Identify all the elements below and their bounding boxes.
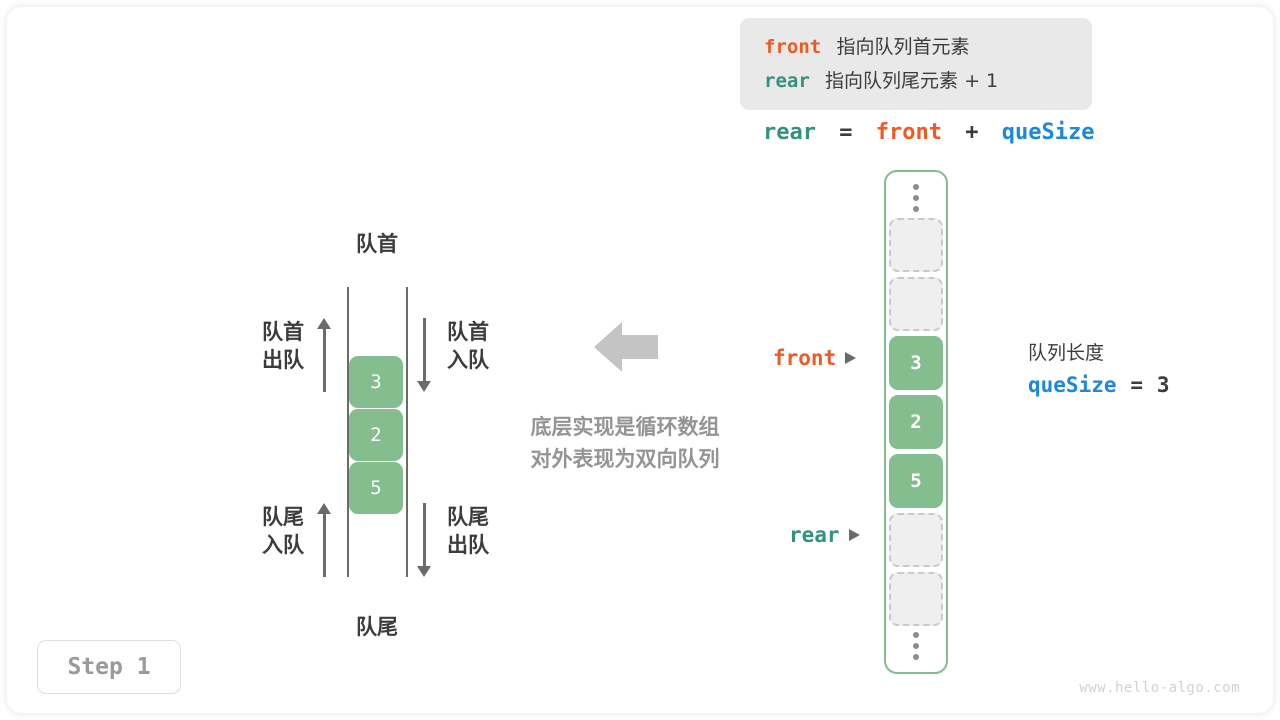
center-caption-line1: 底层实现是循环数组 [504,412,746,444]
vertical-ellipsis-icon-top [913,184,919,212]
legend-box: front 指向队列首元素 rear 指向队列尾元素 + 1 [740,18,1092,110]
pointer-front: front [773,346,856,370]
formula-rear-equals-front-plus-quesize: rear = front + queSize [763,120,1094,145]
deque-head-label: 队首 [347,228,407,258]
deque-slot-1[interactable]: 2 [349,409,403,461]
diagram-canvas: front 指向队列首元素 rear 指向队列尾元素 + 1 rear = fr… [0,0,1280,720]
formula-lhs: rear [763,120,816,145]
deque-slot-0[interactable]: 3 [349,356,403,408]
op-label-head-dequeue: 队首 出队 [249,318,304,375]
quesize-note-label: 队列长度 [1028,338,1170,365]
legend-desc-rear: 指向队列尾元素 + 1 [825,70,998,92]
formula-rhs-quesize: queSize [1002,120,1095,145]
arrow-down-icon-tail-dequeue [417,503,431,577]
array-slot-0[interactable] [889,218,943,272]
arrow-right-icon-front [845,352,856,364]
step-badge: Step 1 [37,640,181,694]
deque-tail-label: 队尾 [347,611,407,641]
deque-rail-right [406,287,408,577]
array-slot-3[interactable]: 2 [889,395,943,449]
arrow-left-icon-large [594,322,658,372]
legend-line-front: front 指向队列首元素 [764,32,970,59]
deque-slot-1-value: 2 [370,424,381,446]
arrow-up-icon-head-dequeue [317,318,331,392]
watermark: www.hello-algo.com [1079,680,1240,696]
array-slot-2-value: 3 [910,352,921,374]
formula-rhs-front: front [876,120,942,145]
op-label-tail-enqueue: 队尾 入队 [249,503,304,560]
quesize-note-var: queSize [1028,373,1117,397]
center-caption: 底层实现是循环数组 对外表现为双向队列 [504,412,746,475]
quesize-note-value: 3 [1157,373,1170,397]
pointer-front-label: front [773,346,836,370]
formula-plus: + [965,120,978,145]
op-label-head-enqueue: 队首 入队 [447,318,489,375]
array-slot-4[interactable]: 5 [889,454,943,508]
array-slot-3-value: 2 [910,411,921,433]
arrow-right-icon-rear [849,529,860,541]
arrow-up-icon-tail-enqueue [317,503,331,577]
center-caption-line2: 对外表现为双向队列 [504,444,746,476]
pointer-rear-label: rear [789,523,840,547]
legend-term-front: front [764,36,821,58]
array-slot-1[interactable] [889,277,943,331]
array-slot-5[interactable] [889,513,943,567]
quesize-note-equals: = [1130,373,1143,397]
deque-slot-2-value: 5 [370,477,381,499]
array-slot-2[interactable]: 3 [889,336,943,390]
array-slot-6[interactable] [889,572,943,626]
legend-line-rear: rear 指向队列尾元素 + 1 [764,66,998,93]
pointer-rear: rear [789,523,860,547]
circular-array-container: 3 2 5 [884,170,948,674]
quesize-note: 队列长度 queSize = 3 [1028,338,1170,398]
formula-equals: = [839,120,852,145]
array-slot-4-value: 5 [910,470,921,492]
legend-desc-front: 指向队列首元素 [836,36,969,58]
deque-slot-2[interactable]: 5 [349,462,403,514]
op-label-tail-dequeue: 队尾 出队 [447,503,489,560]
legend-term-rear: rear [764,70,810,92]
arrow-down-icon-head-enqueue [417,318,431,392]
deque-slot-0-value: 3 [370,371,381,393]
vertical-ellipsis-icon-bottom [913,632,919,660]
